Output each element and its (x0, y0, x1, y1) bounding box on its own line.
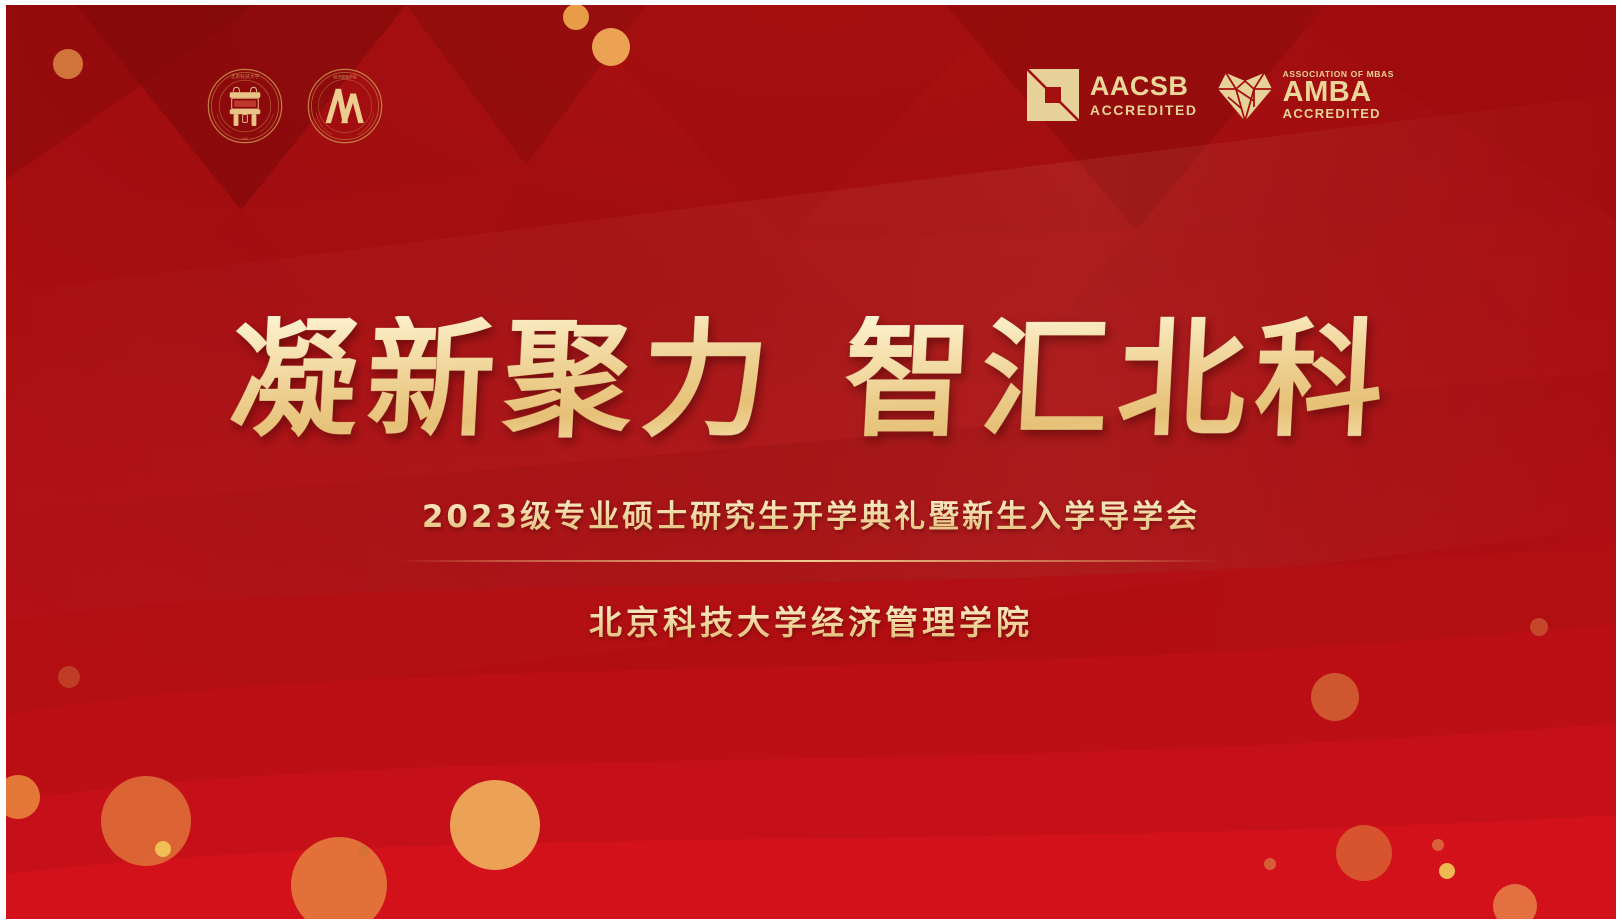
amba-status: ACCREDITED (1283, 107, 1394, 120)
decor-circle (155, 841, 171, 857)
university-seal-ding-icon: 北京科技大学 1952 (206, 67, 284, 145)
aacsb-accreditation-logo: AACSB ACCREDITED (1025, 67, 1198, 123)
organization-name: 北京科技大学经济管理学院 (589, 596, 1033, 644)
gold-divider (398, 560, 1224, 562)
amba-accreditation-logo: ASSOCIATION OF MBAS AMBA ACCREDITED (1216, 67, 1394, 123)
decor-circle (357, 845, 369, 857)
event-banner: 北京科技大学 1952 (6, 5, 1616, 919)
decor-circle (1336, 825, 1392, 881)
svg-text:经济管理学院: 经济管理学院 (333, 75, 356, 80)
decor-circle (592, 28, 630, 66)
aacsb-diamond-icon (1025, 67, 1081, 123)
sem-school-seal: 经济管理学院 (306, 67, 384, 145)
decor-circle (53, 49, 83, 79)
decor-circle (1311, 673, 1359, 721)
decor-circle (101, 776, 191, 866)
aacsb-name: AACSB (1090, 73, 1198, 100)
decor-circle (1432, 839, 1444, 851)
decor-circle (58, 666, 80, 688)
headline-part-one: 凝新聚力 (227, 316, 782, 444)
accreditation-group: AACSB ACCREDITED A (1025, 67, 1394, 123)
amba-diamond-heart-icon (1216, 67, 1274, 123)
decor-circle (563, 5, 589, 30)
seal-group: 北京科技大学 1952 (206, 67, 384, 145)
poster-canvas: 北京科技大学 1952 (0, 0, 1622, 924)
headline-part-two: 智汇北科 (841, 316, 1396, 444)
ustb-university-seal: 北京科技大学 1952 (206, 67, 284, 145)
amba-name: AMBA (1283, 79, 1394, 105)
decor-circle (1264, 858, 1276, 870)
svg-text:1952: 1952 (241, 137, 248, 141)
decor-circle (1439, 863, 1455, 879)
aacsb-status: ACCREDITED (1090, 103, 1198, 117)
event-subtitle: 2023级专业硕士研究生开学典礼暨新生入学导学会 (422, 491, 1200, 536)
decor-circle (450, 780, 540, 870)
headline: 凝新聚力 智汇北科 (230, 305, 1392, 455)
decor-circle (6, 775, 40, 819)
decor-circle (1493, 884, 1537, 919)
banner-content: 凝新聚力 智汇北科 2023级专业硕士研究生开学典礼暨新生入学导学会 北京科技大… (6, 305, 1616, 644)
school-seal-monogram-icon: 经济管理学院 (306, 67, 384, 145)
decor-circle (291, 837, 387, 919)
